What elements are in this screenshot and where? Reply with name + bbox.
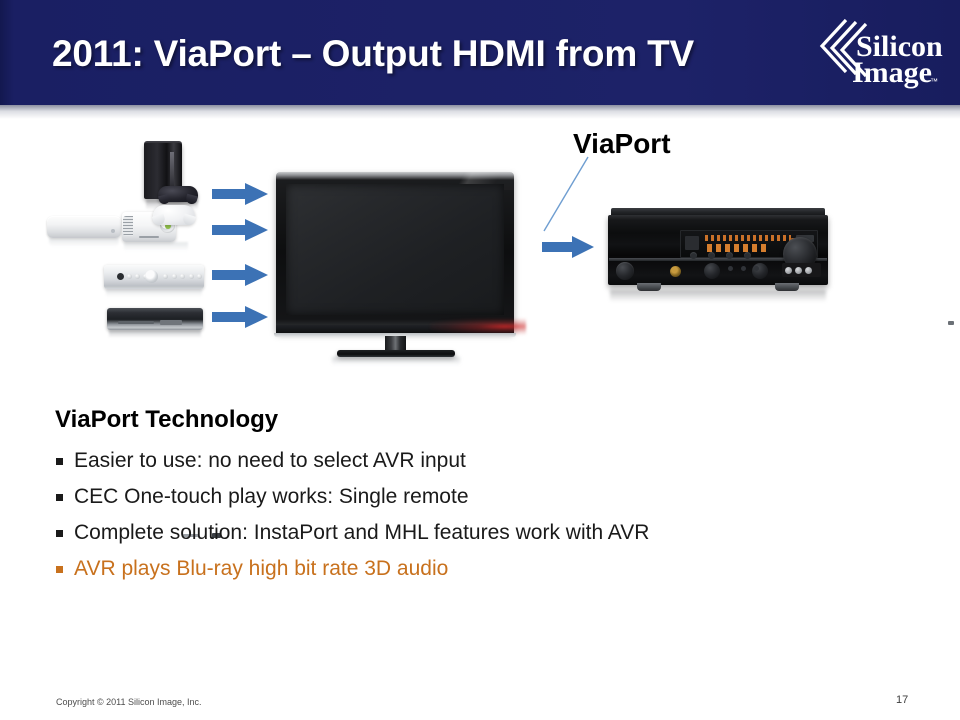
bullet-marker-icon <box>56 494 63 501</box>
bullet-item-2: CEC One-touch play works: Single remote <box>56 480 896 514</box>
arrow-tv-to-avr <box>542 236 594 258</box>
xbox-disc-slot <box>139 236 159 238</box>
avr-headphone-jack <box>670 266 681 277</box>
arrow-source-to-tv-3 <box>212 264 268 286</box>
bullet-text: CEC One-touch play works: Single remote <box>74 480 469 514</box>
tv-screen <box>286 184 504 315</box>
bullet-item-1: Easier to use: no need to select AVR inp… <box>56 444 896 478</box>
avr-reflection <box>610 290 826 302</box>
xbox-controller <box>153 205 195 225</box>
viaport-leader-line <box>540 155 592 238</box>
dvr-record-button <box>117 273 124 280</box>
bullet-item-3: Complete solution: InstaPort and MHL fea… <box>56 516 896 550</box>
avr-button-row-lower <box>728 266 759 271</box>
header-drop-shadow <box>0 105 960 119</box>
page-title: 2011: ViaPort – Output HDMI from TV <box>52 33 694 75</box>
dvr-reflection <box>106 289 202 297</box>
arrow-source-to-tv-4 <box>212 306 268 328</box>
avr-rca-input-jacks <box>782 263 821 277</box>
avr-button-row-upper <box>690 252 751 259</box>
bullet-item-4: AVR plays Blu-ray high bit rate 3D audio <box>56 552 896 586</box>
blu-ray-eject-button <box>948 321 954 325</box>
avr-tone-knob <box>704 263 720 279</box>
avr-display-main-text <box>707 244 769 252</box>
svg-text:Image: Image <box>852 56 932 89</box>
bullet-list: Easier to use: no need to select AVR inp… <box>56 444 896 588</box>
body-heading: ViaPort Technology <box>55 406 278 434</box>
footer-copyright: Copyright © 2011 Silicon Image, Inc. <box>56 697 202 707</box>
arrow-source-to-tv-1 <box>212 183 268 205</box>
bullet-marker-icon <box>56 566 63 573</box>
arrow-source-to-tv-2 <box>212 219 268 241</box>
bullet-text: Complete solution: InstaPort and MHL fea… <box>74 516 649 550</box>
media-streamer-chassis <box>47 216 121 238</box>
blu-ray-chassis <box>107 308 203 330</box>
footer-page-number: 17 <box>896 694 908 706</box>
avr-display-top-text <box>705 235 791 241</box>
xbox-vent <box>123 216 133 236</box>
tv-stand-base <box>337 350 455 357</box>
dvr-button-group-right <box>163 274 202 279</box>
dvr-navigation-dial <box>145 270 158 283</box>
bullet-text: AVR plays Blu-ray high bit rate 3D audio <box>74 552 448 586</box>
slide-canvas: 2011: ViaPort – Output HDMI from TV Sili… <box>0 0 960 720</box>
bullet-marker-icon <box>56 458 63 465</box>
bullet-marker-icon <box>56 530 63 537</box>
bullet-text: Easier to use: no need to select AVR inp… <box>74 444 466 478</box>
ps3-disc-slot <box>170 152 174 188</box>
blu-ray-disc-tray <box>118 321 154 324</box>
svg-text:™: ™ <box>930 77 938 86</box>
silicon-image-logo: Silicon Image ™ <box>812 16 944 92</box>
xbox-reflection <box>124 242 188 251</box>
avr-input-selector-knob <box>616 262 634 280</box>
tv-stand-reflection <box>332 357 460 365</box>
blu-ray-display <box>160 320 182 325</box>
media-streamer-reflection <box>49 238 119 247</box>
blu-ray-reflection <box>109 330 201 338</box>
avr-display-left-segment <box>685 236 699 250</box>
